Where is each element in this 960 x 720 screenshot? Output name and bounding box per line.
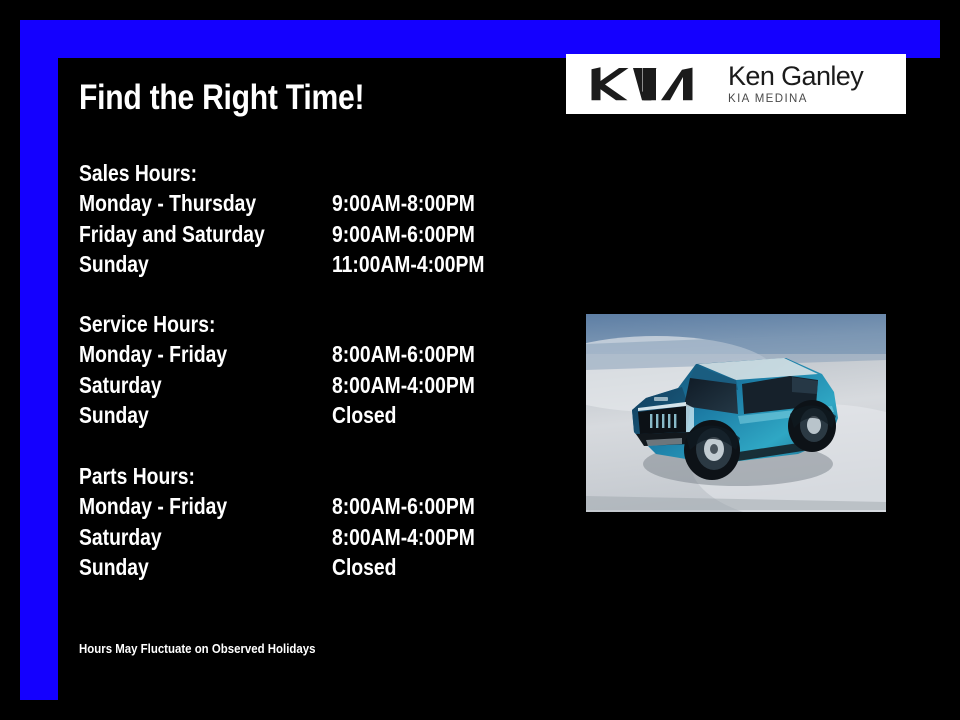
dealer-name: Ken Ganley xyxy=(728,63,863,90)
hours-row: Monday - Friday 8:00AM-6:00PM xyxy=(79,339,241,369)
hours-row: Friday and Saturday 9:00AM-6:00PM xyxy=(79,219,220,249)
hours-section-parts: Parts Hours: Monday - Friday 8:00AM-6:00… xyxy=(79,461,217,583)
time-value: 8:00AM-6:00PM xyxy=(332,491,475,521)
slide-canvas: Find the Right Time! Sales Hours: Monday… xyxy=(0,0,960,720)
day-label: Saturday xyxy=(79,370,162,400)
time-value: 11:00AM-4:00PM xyxy=(332,249,484,279)
page-title: Find the Right Time! xyxy=(79,78,364,118)
dealer-logo-lockup: Ken Ganley KIA MEDINA xyxy=(566,54,906,114)
day-label: Sunday xyxy=(79,552,149,582)
section-heading-sales: Sales Hours: xyxy=(79,158,197,188)
hours-row: Sunday Closed xyxy=(79,400,241,430)
hours-row: Monday - Friday 8:00AM-6:00PM xyxy=(79,491,217,521)
section-heading-parts: Parts Hours: xyxy=(79,461,195,491)
hours-row: Monday - Thursday 9:00AM-8:00PM xyxy=(79,188,220,218)
dealer-name-block: Ken Ganley KIA MEDINA xyxy=(728,63,863,105)
day-label: Monday - Friday xyxy=(79,491,227,521)
kia-logo-icon xyxy=(578,67,706,101)
dealer-subtitle: KIA MEDINA xyxy=(728,93,863,105)
day-label: Monday - Thursday xyxy=(79,188,256,218)
day-label: Friday and Saturday xyxy=(79,219,265,249)
time-value: Closed xyxy=(332,552,396,582)
time-value: 8:00AM-4:00PM xyxy=(332,522,475,552)
hours-row: Saturday 8:00AM-4:00PM xyxy=(79,522,217,552)
time-value: Closed xyxy=(332,400,396,430)
kia-ev9-suv-photo xyxy=(586,314,886,512)
section-heading-service: Service Hours: xyxy=(79,309,215,339)
time-value: 9:00AM-6:00PM xyxy=(332,219,475,249)
hours-row: Sunday 11:00AM-4:00PM xyxy=(79,249,220,279)
day-label: Sunday xyxy=(79,249,149,279)
time-value: 9:00AM-8:00PM xyxy=(332,188,475,218)
time-value: 8:00AM-4:00PM xyxy=(332,370,475,400)
day-label: Monday - Friday xyxy=(79,339,227,369)
hours-section-sales: Sales Hours: Monday - Thursday 9:00AM-8:… xyxy=(79,158,220,280)
hours-row: Sunday Closed xyxy=(79,552,217,582)
hours-section-service: Service Hours: Monday - Friday 8:00AM-6:… xyxy=(79,309,241,431)
time-value: 8:00AM-6:00PM xyxy=(332,339,475,369)
day-label: Saturday xyxy=(79,522,162,552)
footer-disclaimer: Hours May Fluctuate on Observed Holidays xyxy=(79,641,315,656)
day-label: Sunday xyxy=(79,400,149,430)
hours-row: Saturday 8:00AM-4:00PM xyxy=(79,370,241,400)
